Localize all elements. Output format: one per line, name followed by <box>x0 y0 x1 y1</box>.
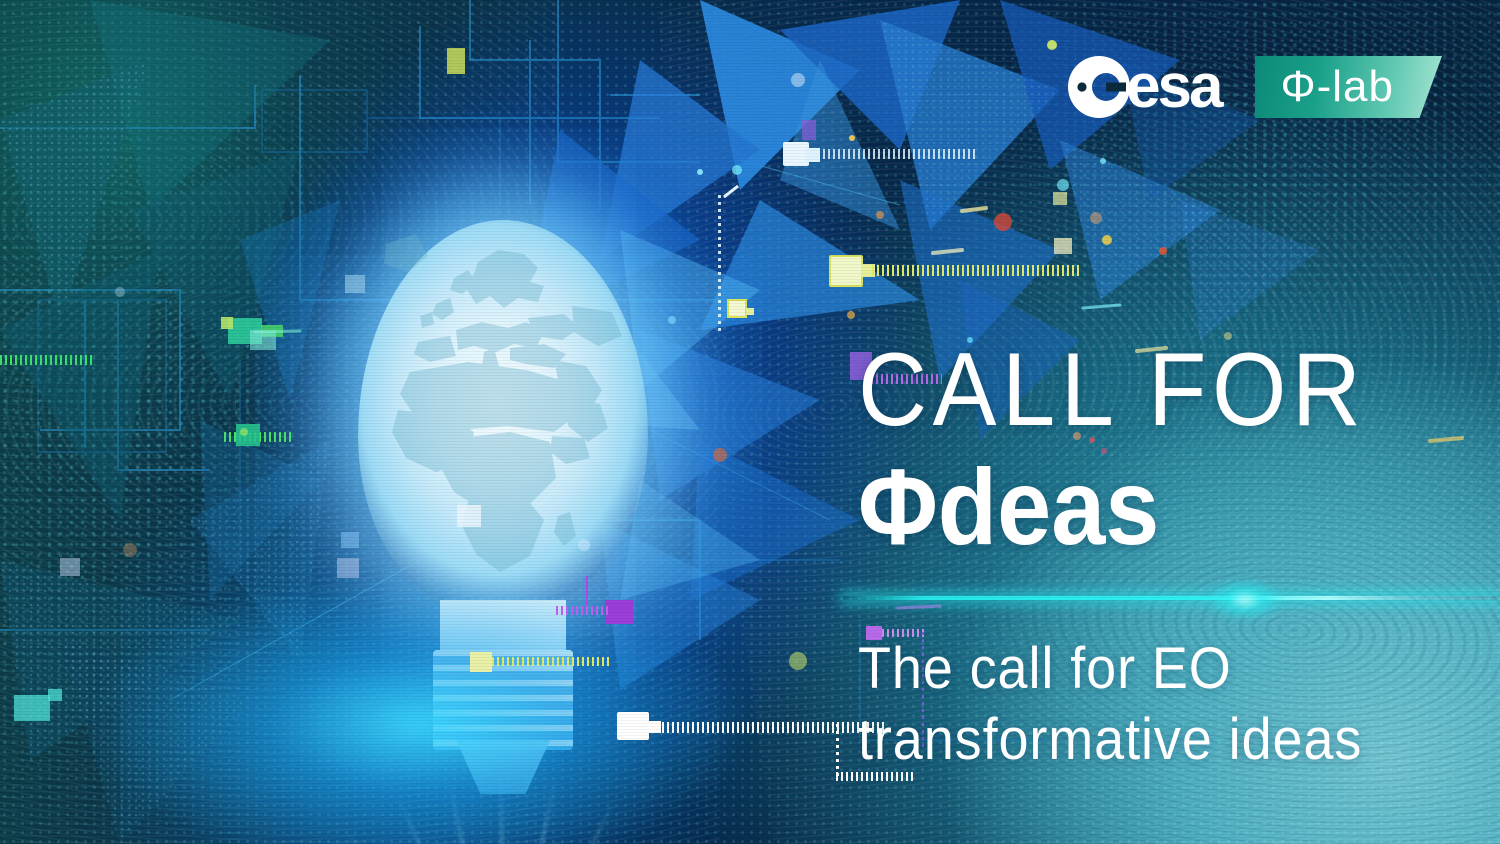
subtitle-block: The call for EO transformative ideas <box>858 633 1416 776</box>
logo-bar: esa Φ-lab <box>1068 56 1442 118</box>
esa-wordmark: esa <box>1126 56 1220 118</box>
marker-square-8 <box>60 558 80 576</box>
headline-divider-line <box>843 596 1500 600</box>
marker-square-6 <box>457 505 481 527</box>
marker-square-7 <box>341 532 359 548</box>
node-marker-purple-1 <box>605 600 633 624</box>
connector-trace-2 <box>657 722 887 733</box>
divider-glow-bloom <box>1185 560 1305 640</box>
connector-trace-vertical-1 <box>718 195 721 335</box>
marker-square-1 <box>221 317 233 329</box>
esa-crescent-mark-icon <box>1068 56 1130 118</box>
marker-square-2 <box>447 48 465 74</box>
node-marker-white-2 <box>617 712 649 740</box>
esa-logo[interactable]: esa <box>1068 56 1220 118</box>
poster-canvas: CALL FOR Φdeas The call for EO transform… <box>0 0 1500 844</box>
marker-square-5 <box>345 275 365 293</box>
connector-trace-yellow-1 <box>872 265 1082 276</box>
philab-label: Φ-lab <box>1281 65 1394 109</box>
connector-trace-green-2 <box>0 355 92 365</box>
marker-square-9 <box>1054 238 1072 254</box>
philab-badge[interactable]: Φ-lab <box>1255 56 1442 118</box>
connector-trace-1 <box>818 149 978 159</box>
subtitle-line-1: The call for EO <box>858 633 1416 704</box>
connector-trace-elbow-1 <box>836 724 839 776</box>
node-marker-teal-1 <box>14 695 50 721</box>
marker-square-12 <box>1053 192 1067 205</box>
headline-line-2: Φdeas <box>858 450 1416 564</box>
headline-line-1: CALL FOR <box>858 338 1428 442</box>
headline-block: CALL FOR Φdeas <box>858 338 1478 564</box>
node-marker-yellow-3 <box>470 652 492 672</box>
subtitle-line-2: transformative ideas <box>858 704 1416 775</box>
marker-square-10 <box>802 120 816 140</box>
background-floor-light <box>0 544 840 844</box>
connector-tick-purple-1 <box>586 576 588 606</box>
marker-square-4 <box>250 330 276 350</box>
node-marker-yellow-2 <box>727 299 747 318</box>
connector-trace-purple-1 <box>556 606 608 615</box>
marker-square-11 <box>337 558 359 578</box>
connector-trace-yellow-2 <box>492 657 612 666</box>
node-marker-green-2 <box>236 424 260 446</box>
marker-square-3 <box>806 148 820 162</box>
node-marker-yellow-1 <box>829 255 863 287</box>
